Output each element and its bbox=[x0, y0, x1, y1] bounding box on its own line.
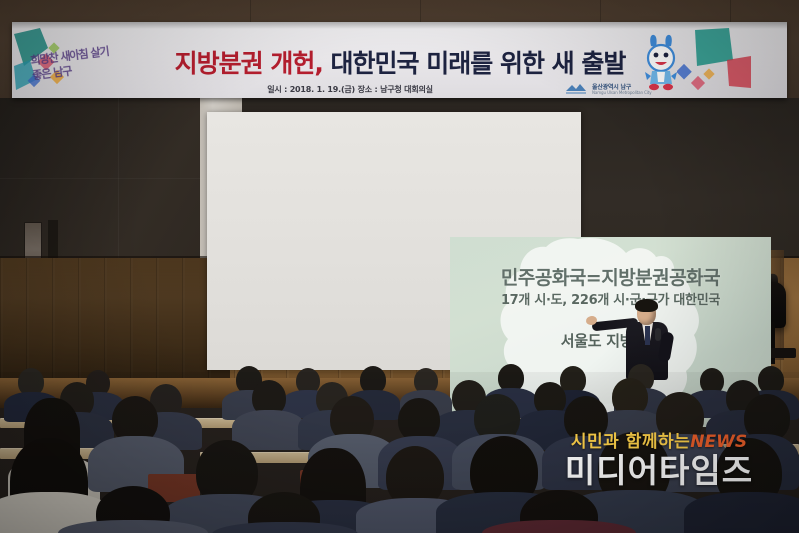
city-emblem-icon bbox=[565, 82, 587, 94]
banner-title-highlight: 지방분권 개헌, bbox=[175, 49, 323, 78]
speaker-tie bbox=[645, 326, 650, 345]
banner-calligraphy: 희망찬 새아침 살기좋은 남구 bbox=[30, 43, 119, 97]
slide-caption: 서울도 지방이다 bbox=[450, 330, 771, 351]
speaker-hair bbox=[635, 299, 658, 312]
banner-top-shadow bbox=[12, 22, 787, 29]
banner-subtitle: 일시 : 2018. 1. 19.(금) 장소 : 남구청 대회의실 bbox=[120, 84, 580, 95]
banner-title: 지방분권 개헌, 대한민국 미래를 위한 새 출발 bbox=[120, 47, 680, 81]
projection-screen: 민주공화국=지방분권공화국 17개 시·도, 226개 시·군·구가 대한민국 … bbox=[207, 112, 581, 370]
photo-scene: 민주공화국=지방분권공화국 17개 시·도, 226개 시·군·구가 대한민국 … bbox=[0, 0, 799, 533]
event-banner: 희망찬 새아침 살기좋은 남구 지방분권 개헌, 대한민국 미래를 위한 새 출… bbox=[12, 22, 787, 98]
banner-decoration-right bbox=[677, 26, 751, 98]
slide-subline: 17개 시·도, 226개 시·군·구가 대한민국 bbox=[450, 289, 771, 308]
microphone-icon bbox=[655, 328, 661, 341]
slide-headline: 민주공화국=지방분권공화국 bbox=[450, 263, 771, 290]
banner-title-rest: 대한민국 미래를 위한 새 출발 bbox=[323, 49, 626, 78]
mascot-icon bbox=[639, 32, 683, 92]
